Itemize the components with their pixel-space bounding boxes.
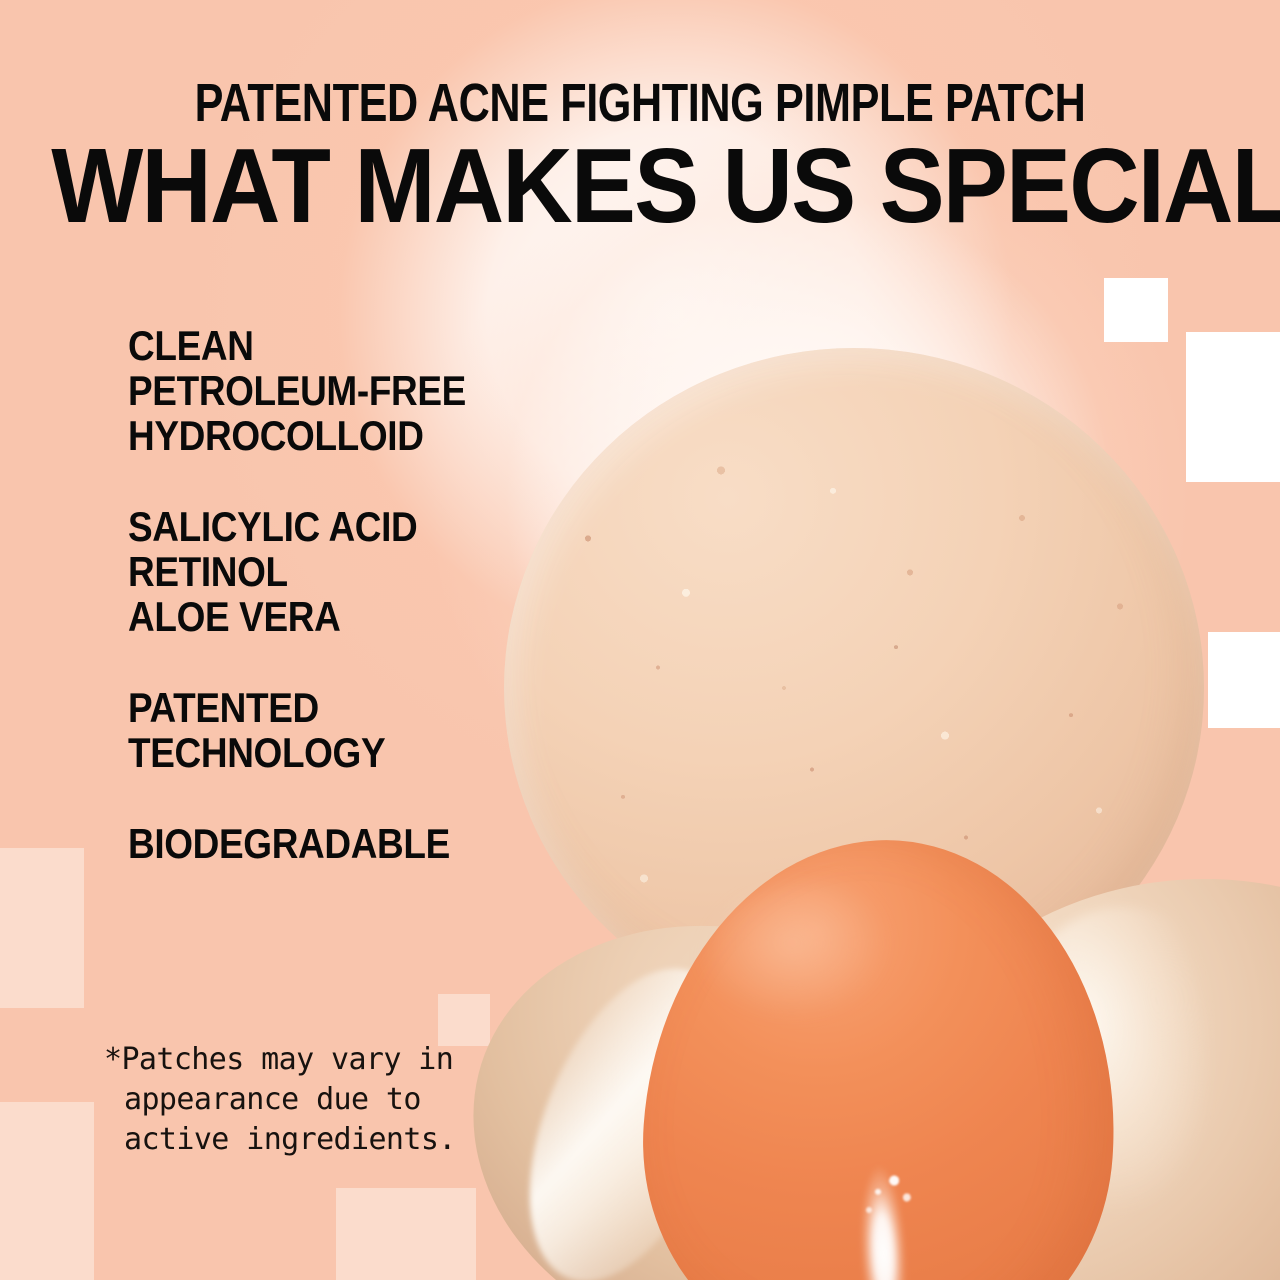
feature-line: PETROLEUM-FREE	[128, 369, 480, 414]
feature-line: TECHNOLOGY	[128, 731, 480, 776]
feature-line: RETINOL	[128, 550, 480, 595]
feature-group-clean-formula: CLEAN PETROLEUM-FREE HYDROCOLLOID	[128, 324, 528, 459]
feature-list: CLEAN PETROLEUM-FREE HYDROCOLLOID SALICY…	[128, 324, 528, 866]
eyebrow-text: PATENTED ACNE FIGHTING PIMPLE PATCH	[128, 76, 1152, 130]
feature-line: BIODEGRADABLE	[128, 822, 480, 867]
page-title: WHAT MAKES US SPECIAL	[51, 133, 1229, 239]
disclaimer-footnote: *Patches may vary in appearance due to a…	[104, 1040, 524, 1160]
feature-line: ALOE VERA	[128, 595, 480, 640]
footnote-line: *Patches may vary in	[104, 1040, 524, 1080]
feature-line: HYDROCOLLOID	[128, 414, 480, 459]
feature-line: CLEAN	[128, 324, 480, 369]
feature-group-patented-technology: PATENTED TECHNOLOGY	[128, 686, 528, 776]
nail-top-sheen	[700, 880, 930, 1060]
product-feature-poster: PATENTED ACNE FIGHTING PIMPLE PATCH WHAT…	[0, 0, 1280, 1280]
feature-line: PATENTED	[128, 686, 480, 731]
feature-group-active-ingredients: SALICYLIC ACID RETINOL ALOE VERA	[128, 505, 528, 640]
feature-group-biodegradable: BIODEGRADABLE	[128, 822, 528, 867]
feature-line: SALICYLIC ACID	[128, 505, 480, 550]
footnote-line: active ingredients.	[104, 1120, 524, 1160]
footnote-line: appearance due to	[104, 1080, 524, 1120]
nail-gloss-specks	[842, 1168, 932, 1238]
